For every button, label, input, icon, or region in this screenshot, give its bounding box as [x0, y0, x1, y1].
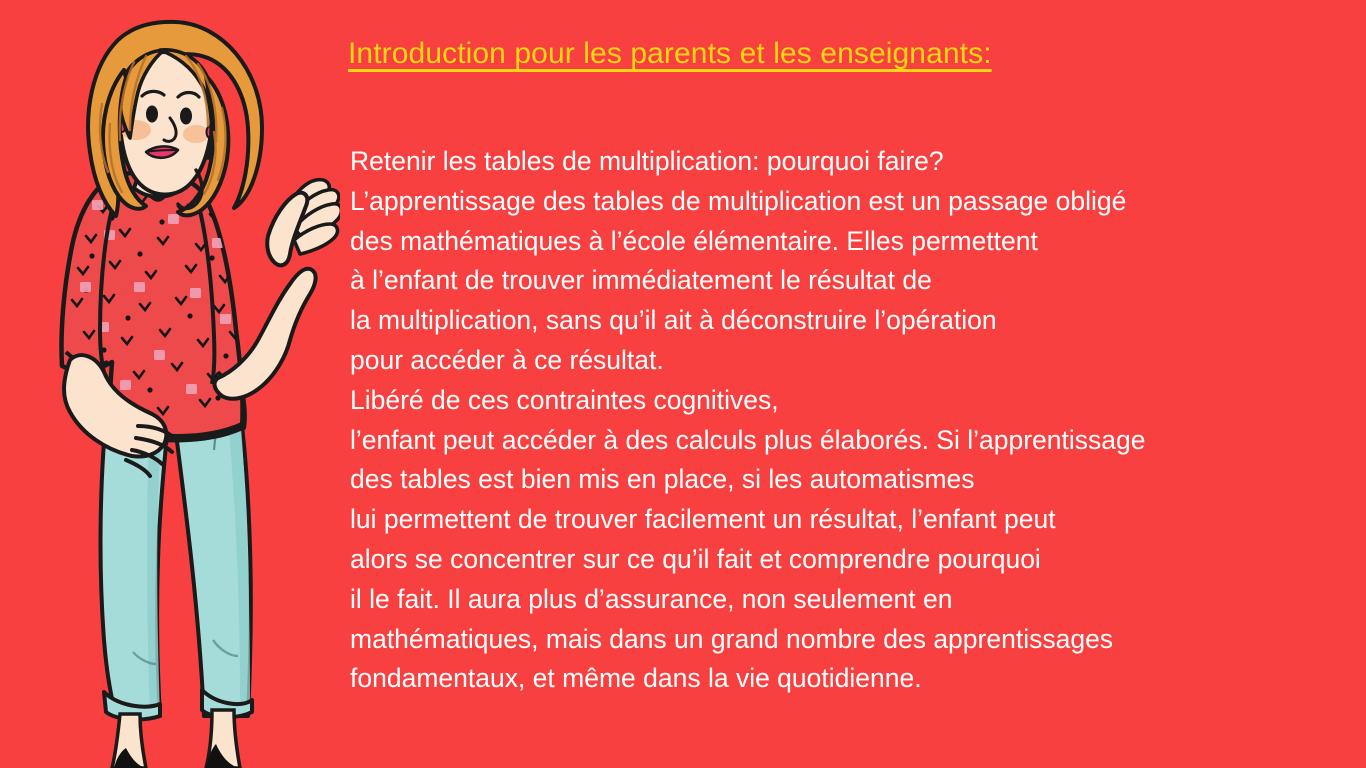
body-text: Retenir les tables de multiplication: po…	[350, 142, 1350, 699]
page-title: Introduction pour les parents et les ens…	[348, 36, 992, 72]
eye-left	[146, 106, 158, 123]
body-line: Libéré de ces contraintes cognitives,	[350, 381, 1350, 421]
woman-teacher-illustration	[0, 0, 340, 768]
body-line: Retenir les tables de multiplication: po…	[350, 142, 1350, 182]
body-line: à l’enfant de trouver immédiatement le r…	[350, 261, 1350, 301]
body-line: des mathématiques à l’école élémentaire.…	[350, 222, 1350, 262]
body-line: lui permettent de trouver facilement un …	[350, 500, 1350, 540]
body-line: L’apprentissage des tables de multiplica…	[350, 182, 1350, 222]
eye-right	[180, 108, 192, 125]
body-line: fondamentaux, et même dans la vie quotid…	[350, 659, 1350, 699]
slide-canvas: Introduction pour les parents et les ens…	[0, 0, 1366, 768]
body-line: alors se concentrer sur ce qu’il fait et…	[350, 540, 1350, 580]
body-line: mathématiques, mais dans un grand nombre…	[350, 620, 1350, 660]
body-line: pour accéder à ce résultat.	[350, 341, 1350, 381]
text-panel: Introduction pour les parents et les ens…	[348, 0, 1358, 768]
body-line: la multiplication, sans qu’il ait à déco…	[350, 301, 1350, 341]
body-line: des tables est bien mis en place, si les…	[350, 460, 1350, 500]
blush-right	[183, 125, 209, 143]
body-line: il le fait. Il aura plus d’assurance, no…	[350, 580, 1350, 620]
body-line: l’enfant peut accéder à des calculs plus…	[350, 421, 1350, 461]
